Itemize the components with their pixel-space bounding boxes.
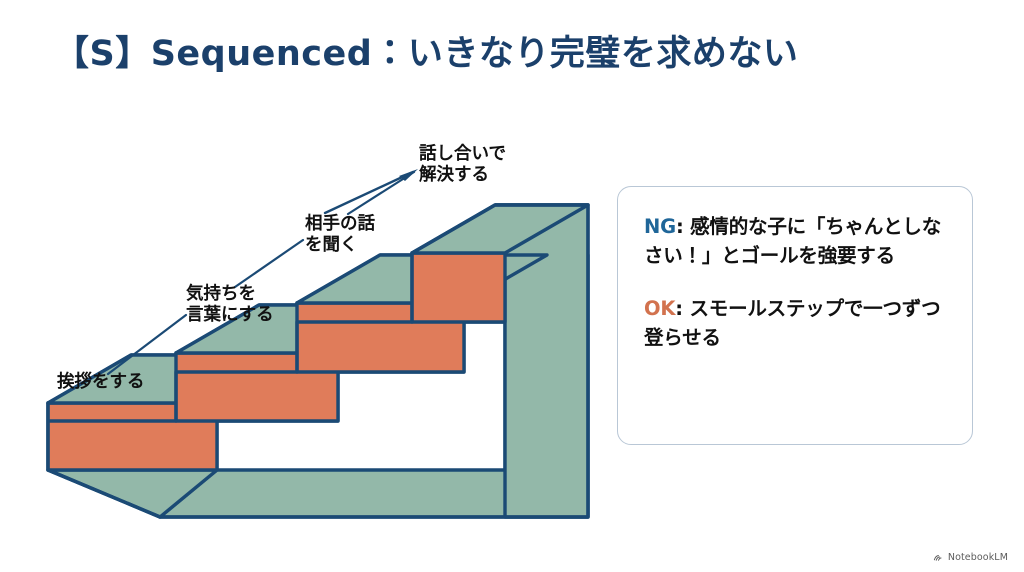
connector-line-1	[108, 315, 186, 374]
step-3-riser-outline	[297, 303, 464, 372]
staircase-fill-1	[217, 353, 338, 421]
staircase-base-left-edge	[48, 470, 160, 517]
slide-canvas: 【S】Sequenced：いきなり完璧を求めない	[0, 0, 1024, 572]
staircase-fill-3	[464, 253, 547, 322]
staircase-base-wedge-outline	[48, 470, 217, 517]
ng-text: : 感情的な子に「ちゃんとしなさい！」とゴールを強要する	[644, 215, 941, 267]
page-title: 【S】Sequenced：いきなり完璧を求めない	[54, 33, 798, 75]
connector-line-2	[235, 240, 303, 287]
step-label-listen-to-other: 相手の話 を聞く	[305, 214, 375, 257]
connector-line-3	[348, 172, 414, 214]
ng-tag: NG	[644, 215, 676, 238]
step-4-tread-outline	[412, 205, 588, 253]
advice-callout-box: NG: 感情的な子に「ちゃんとしなさい！」とゴールを強要する OK: スモールス…	[617, 186, 973, 445]
step-1-riser-outline	[48, 403, 217, 470]
watermark: NotebookLM	[933, 552, 1008, 563]
step-4-riser-outline	[412, 253, 505, 322]
staircase-base-wedge	[48, 470, 217, 517]
connector-line-arrow	[325, 172, 413, 213]
staircase-right-wall	[495, 205, 588, 517]
ok-tag: OK	[644, 297, 675, 320]
watermark-label: NotebookLM	[948, 552, 1008, 563]
step-3-riser	[297, 303, 464, 372]
step-3-tread-outline	[297, 255, 547, 303]
ok-text: : スモールステップで一つずつ登らせる	[644, 297, 940, 349]
connector-arrowhead	[399, 169, 418, 181]
staircase-fill-2	[338, 303, 464, 372]
step-4-riser	[412, 253, 505, 322]
advice-ng-paragraph: NG: 感情的な子に「ちゃんとしなさい！」とゴールを強要する	[644, 213, 950, 271]
step-label-resolve-by-discussion: 話し合いで 解決する	[419, 144, 506, 187]
step-label-greeting: 挨拶をする	[57, 372, 145, 393]
notebooklm-icon	[933, 552, 944, 563]
step-2-riser-outline	[176, 353, 338, 421]
step-1-riser	[48, 403, 217, 470]
step-2-riser	[176, 353, 338, 421]
advice-ok-paragraph: OK: スモールステップで一つずつ登らせる	[644, 295, 950, 353]
step-connectors	[108, 169, 418, 374]
step-label-verbalize-feelings: 気持ちを 言葉にする	[186, 284, 274, 327]
step-3-tread	[297, 255, 547, 303]
step-4-tread	[412, 205, 588, 253]
